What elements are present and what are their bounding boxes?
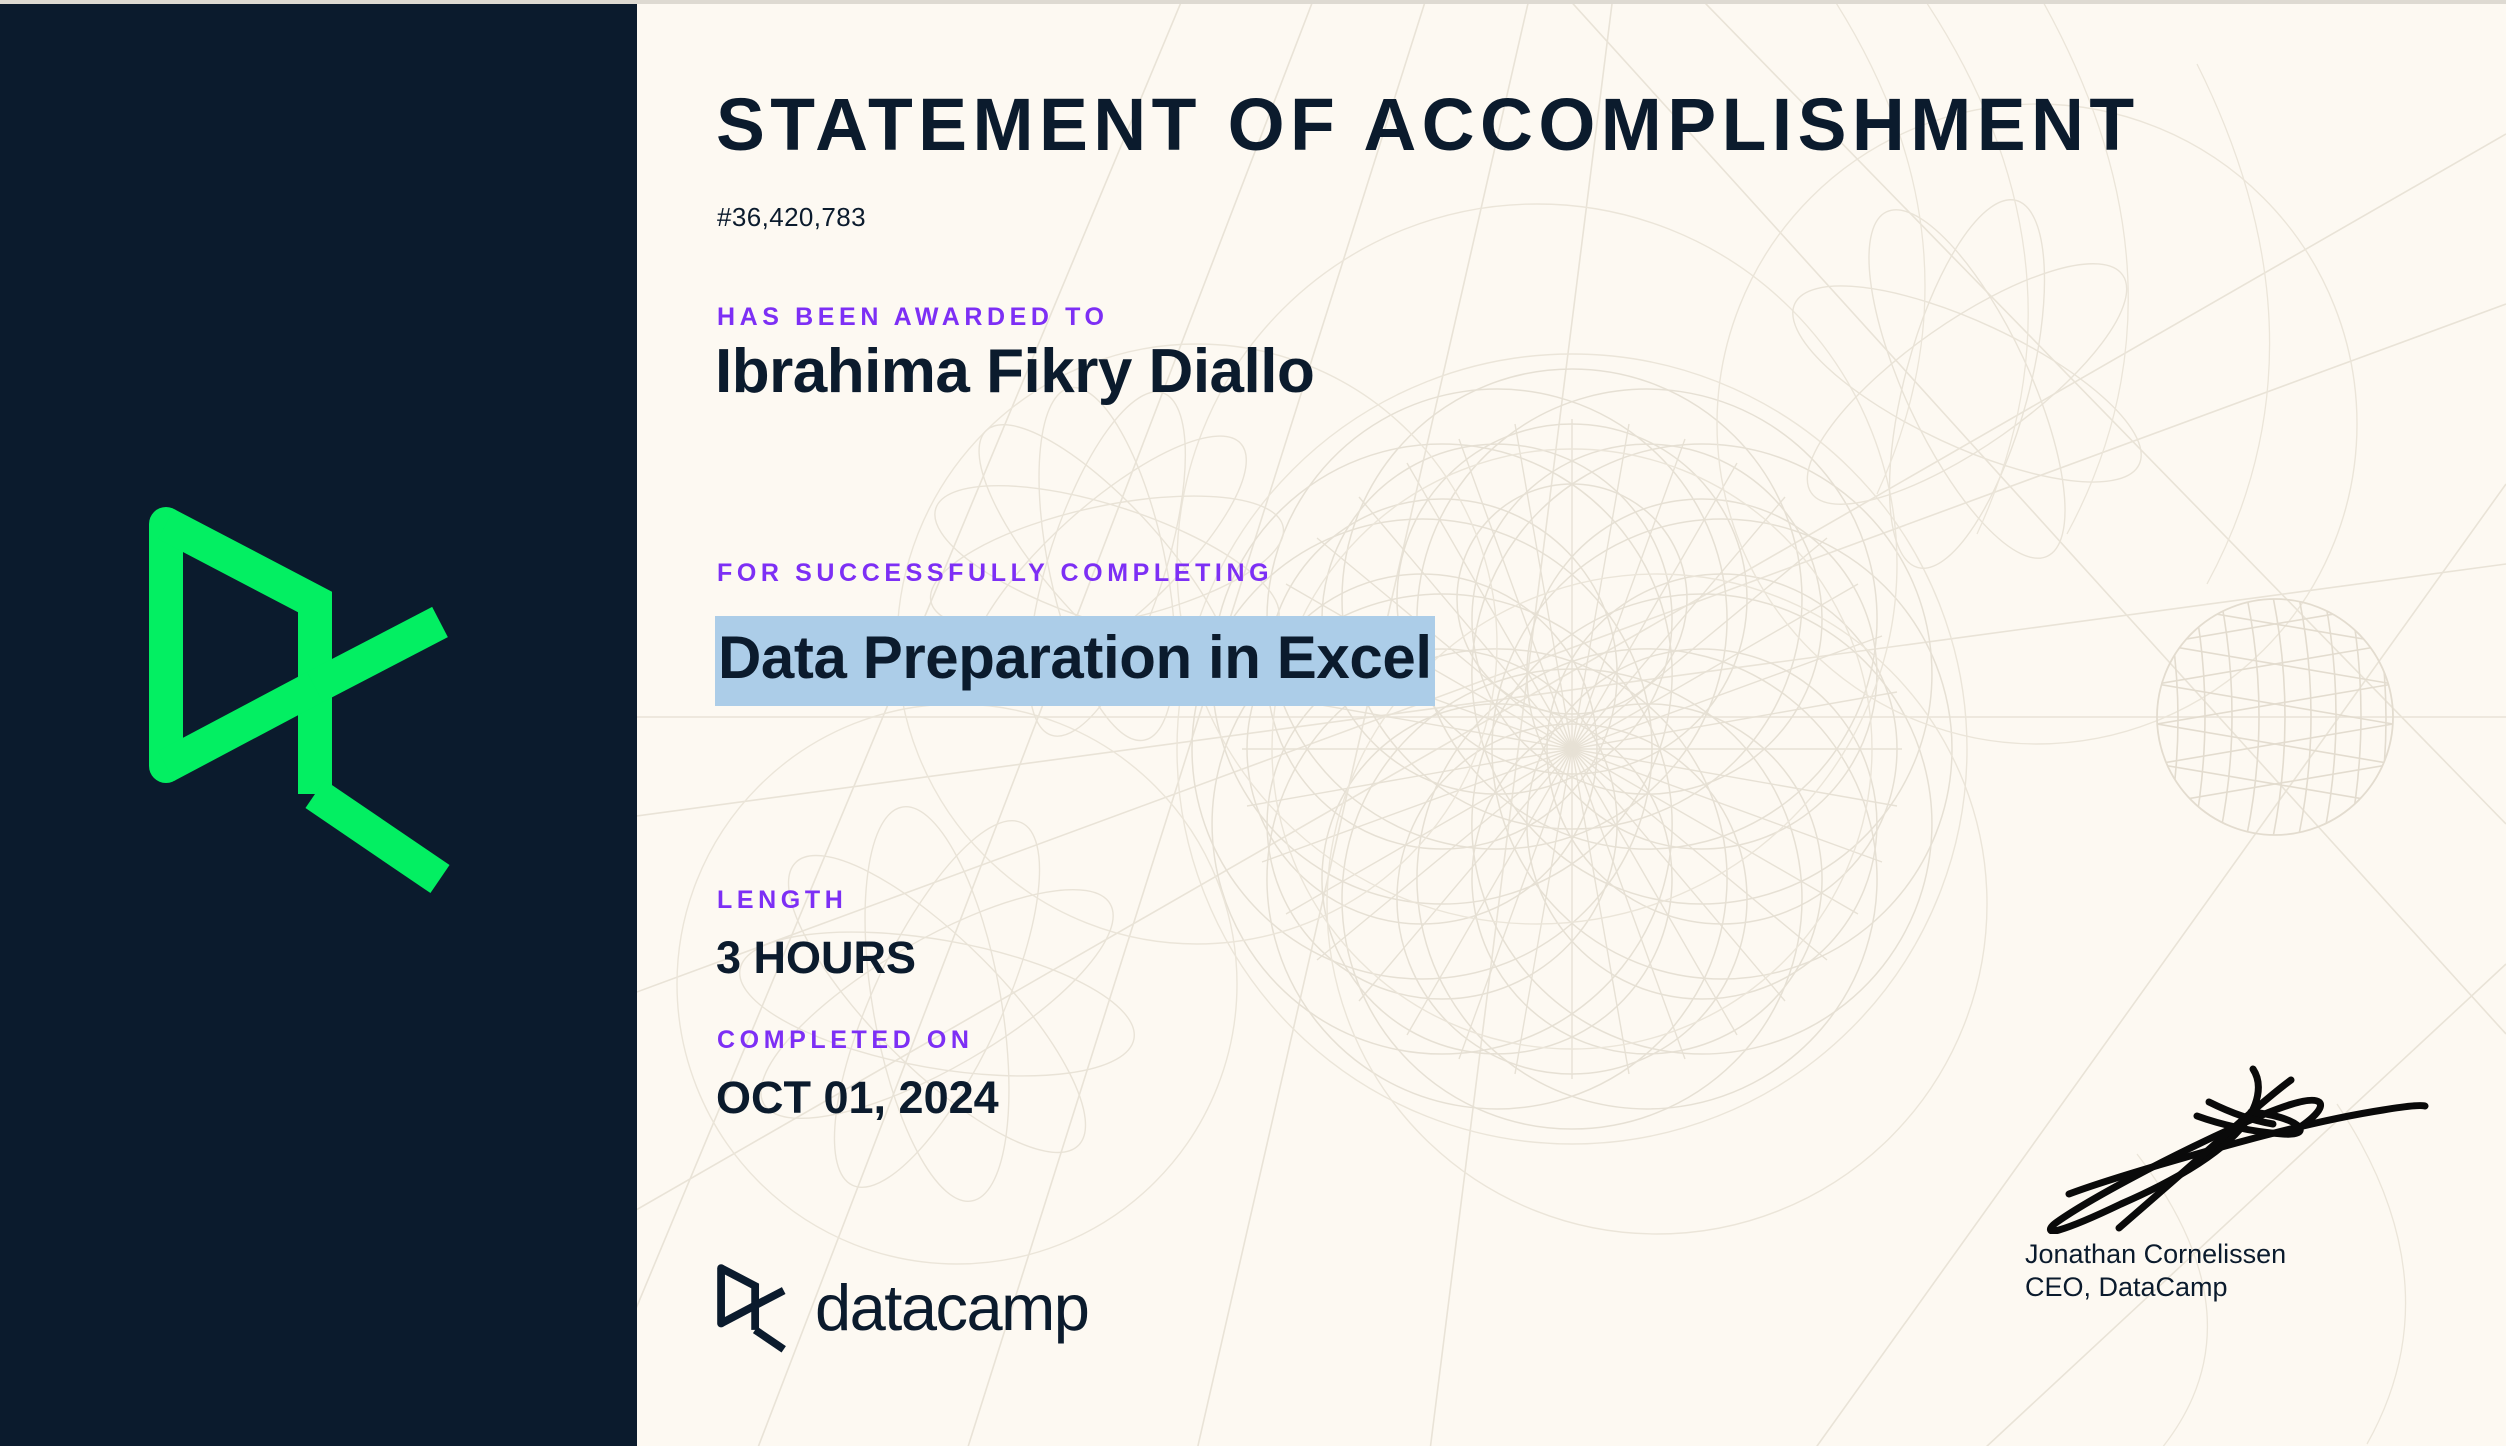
length-label: LENGTH xyxy=(717,886,847,915)
datacamp-footer-logo: datacamp xyxy=(715,1259,1088,1355)
completed-on-value: OCT 01, 2024 xyxy=(716,1072,999,1124)
course-title-container: Data Preparation in Excel xyxy=(715,616,1435,706)
signatory-role: CEO, DataCamp xyxy=(2001,1271,2461,1304)
datacamp-mark-icon xyxy=(715,1259,793,1355)
completing-label: FOR SUCCESSFULLY COMPLETING xyxy=(717,559,1273,588)
recipient-name: Ibrahima Fikry Diallo xyxy=(715,336,1314,407)
signatory-name: Jonathan Cornelissen xyxy=(2001,1238,2461,1271)
course-title: Data Preparation in Excel xyxy=(718,624,1432,691)
certificate-id: #36,420,783 xyxy=(717,202,866,233)
page-title: STATEMENT OF ACCOMPLISHMENT xyxy=(716,82,2140,167)
left-brand-panel xyxy=(0,4,637,1446)
certificate-content: STATEMENT OF ACCOMPLISHMENT #36,420,783 … xyxy=(637,4,2506,1446)
course-title-highlight: Data Preparation in Excel xyxy=(715,616,1435,706)
datacamp-wordmark: datacamp xyxy=(815,1275,1088,1340)
handwritten-signature-icon xyxy=(2001,1044,2441,1234)
length-value: 3 HOURS xyxy=(716,932,916,984)
certificate-canvas: STATEMENT OF ACCOMPLISHMENT #36,420,783 … xyxy=(0,0,2506,1446)
completed-on-label: COMPLETED ON xyxy=(717,1026,974,1055)
certificate-body-panel: STATEMENT OF ACCOMPLISHMENT #36,420,783 … xyxy=(637,4,2506,1446)
datacamp-mark-icon xyxy=(140,484,480,904)
awarded-to-label: HAS BEEN AWARDED TO xyxy=(717,303,1109,332)
signature-block: Jonathan Cornelissen CEO, DataCamp xyxy=(2001,1044,2461,1304)
